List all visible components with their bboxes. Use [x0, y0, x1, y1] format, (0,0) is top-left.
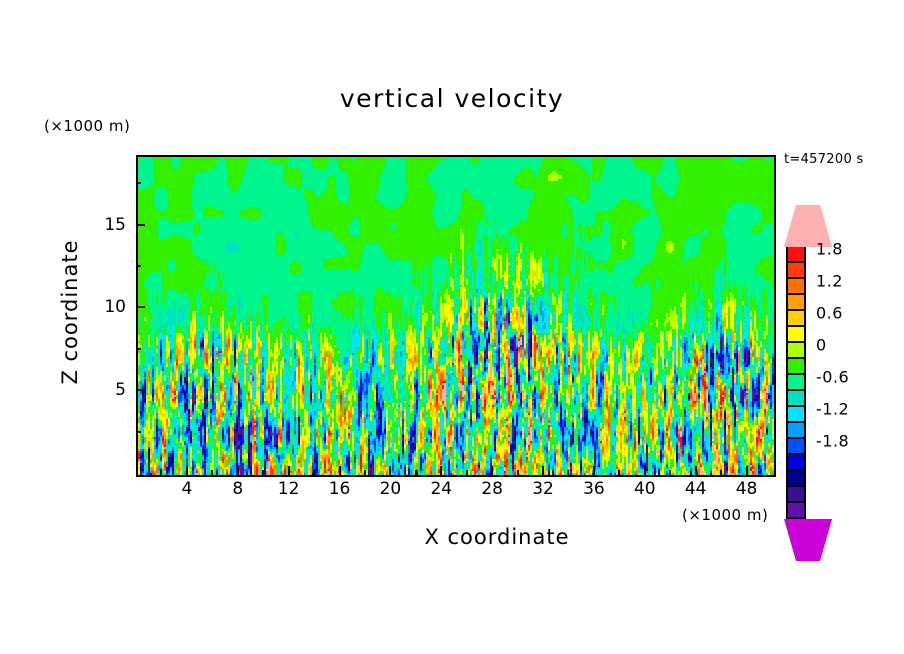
x-tick-major	[695, 466, 697, 475]
x-tick-major	[186, 466, 188, 475]
colorbar-band	[786, 359, 806, 375]
page-title: vertical velocity	[0, 84, 904, 113]
x-tick-major	[542, 466, 544, 475]
y-tick-major	[136, 224, 145, 226]
colorbar-band	[786, 343, 806, 359]
colorbar-band	[786, 327, 806, 343]
timestamp-label: t=457200 s	[784, 152, 864, 167]
colorbar-band	[786, 439, 806, 455]
colorbar-tick-label: 0.6	[816, 304, 843, 323]
x-tick-minor	[160, 470, 162, 475]
x-tick-major	[440, 466, 442, 475]
x-tick-major	[746, 466, 748, 475]
heatmap-field	[138, 157, 774, 475]
x-tick-minor	[466, 470, 468, 475]
colorbar-band	[786, 423, 806, 439]
colorbar-band	[786, 503, 806, 519]
colorbar-band	[786, 407, 806, 423]
x-tick-label: 24	[430, 479, 452, 499]
x-tick-minor	[415, 470, 417, 475]
x-tick-major	[339, 466, 341, 475]
x-axis-unit-label: (×1000 m)	[682, 506, 768, 524]
colorbar: 1.81.20.60-0.6-1.2-1.8	[786, 205, 806, 561]
colorbar-band	[786, 455, 806, 471]
x-tick-label: 20	[380, 479, 402, 499]
x-tick-label: 32	[532, 479, 554, 499]
x-tick-minor	[262, 470, 264, 475]
colorbar-band	[786, 471, 806, 487]
x-tick-major	[288, 466, 290, 475]
y-tick-label: 5	[96, 380, 126, 400]
x-tick-label: 48	[736, 479, 758, 499]
colorbar-tick-label: 1.2	[816, 272, 843, 291]
plot-frame	[136, 155, 776, 477]
x-tick-major	[644, 466, 646, 475]
x-tick-minor	[669, 470, 671, 475]
colorbar-band	[786, 247, 806, 263]
y-tick-minor	[136, 348, 141, 350]
y-tick-minor	[136, 182, 141, 184]
colorbar-band	[786, 487, 806, 503]
y-tick-label: 10	[96, 297, 126, 317]
colorbar-tick-label: 0	[816, 336, 827, 355]
x-tick-label: 28	[481, 479, 503, 499]
y-tick-label: 15	[96, 215, 126, 235]
colorbar-band	[786, 375, 806, 391]
x-tick-label: 4	[181, 479, 192, 499]
x-tick-label: 44	[685, 479, 707, 499]
x-tick-label: 8	[232, 479, 243, 499]
x-tick-minor	[567, 470, 569, 475]
x-axis-title-text: X coordinate	[334, 525, 569, 549]
x-axis-title: X coordinate	[0, 525, 904, 549]
x-tick-major	[389, 466, 391, 475]
colorbar-tick-label: -1.8	[816, 432, 849, 451]
colorbar-band	[786, 295, 806, 311]
y-tick-minor	[136, 431, 141, 433]
x-tick-minor	[313, 470, 315, 475]
x-tick-major	[593, 466, 595, 475]
x-tick-major	[237, 466, 239, 475]
colorbar-under-arrow	[784, 519, 832, 561]
x-tick-label: 12	[278, 479, 300, 499]
colorbar-band	[786, 263, 806, 279]
y-axis-unit-label: (×1000 m)	[44, 117, 130, 135]
y-tick-major	[136, 306, 145, 308]
x-tick-minor	[211, 470, 213, 475]
y-axis-title: Z coordinate	[58, 202, 82, 422]
colorbar-tick-label: 1.8	[816, 240, 843, 259]
colorbar-band	[786, 391, 806, 407]
x-tick-minor	[720, 470, 722, 475]
x-tick-minor	[364, 470, 366, 475]
x-tick-label: 36	[583, 479, 605, 499]
x-tick-major	[491, 466, 493, 475]
colorbar-tick-label: -0.6	[816, 368, 849, 387]
y-tick-minor	[136, 265, 141, 267]
colorbar-tick-label: -1.2	[816, 400, 849, 419]
y-tick-major	[136, 389, 145, 391]
x-tick-minor	[618, 470, 620, 475]
colorbar-band	[786, 311, 806, 327]
x-tick-minor	[517, 470, 519, 475]
x-tick-label: 40	[634, 479, 656, 499]
colorbar-band	[786, 279, 806, 295]
x-tick-label: 16	[329, 479, 351, 499]
